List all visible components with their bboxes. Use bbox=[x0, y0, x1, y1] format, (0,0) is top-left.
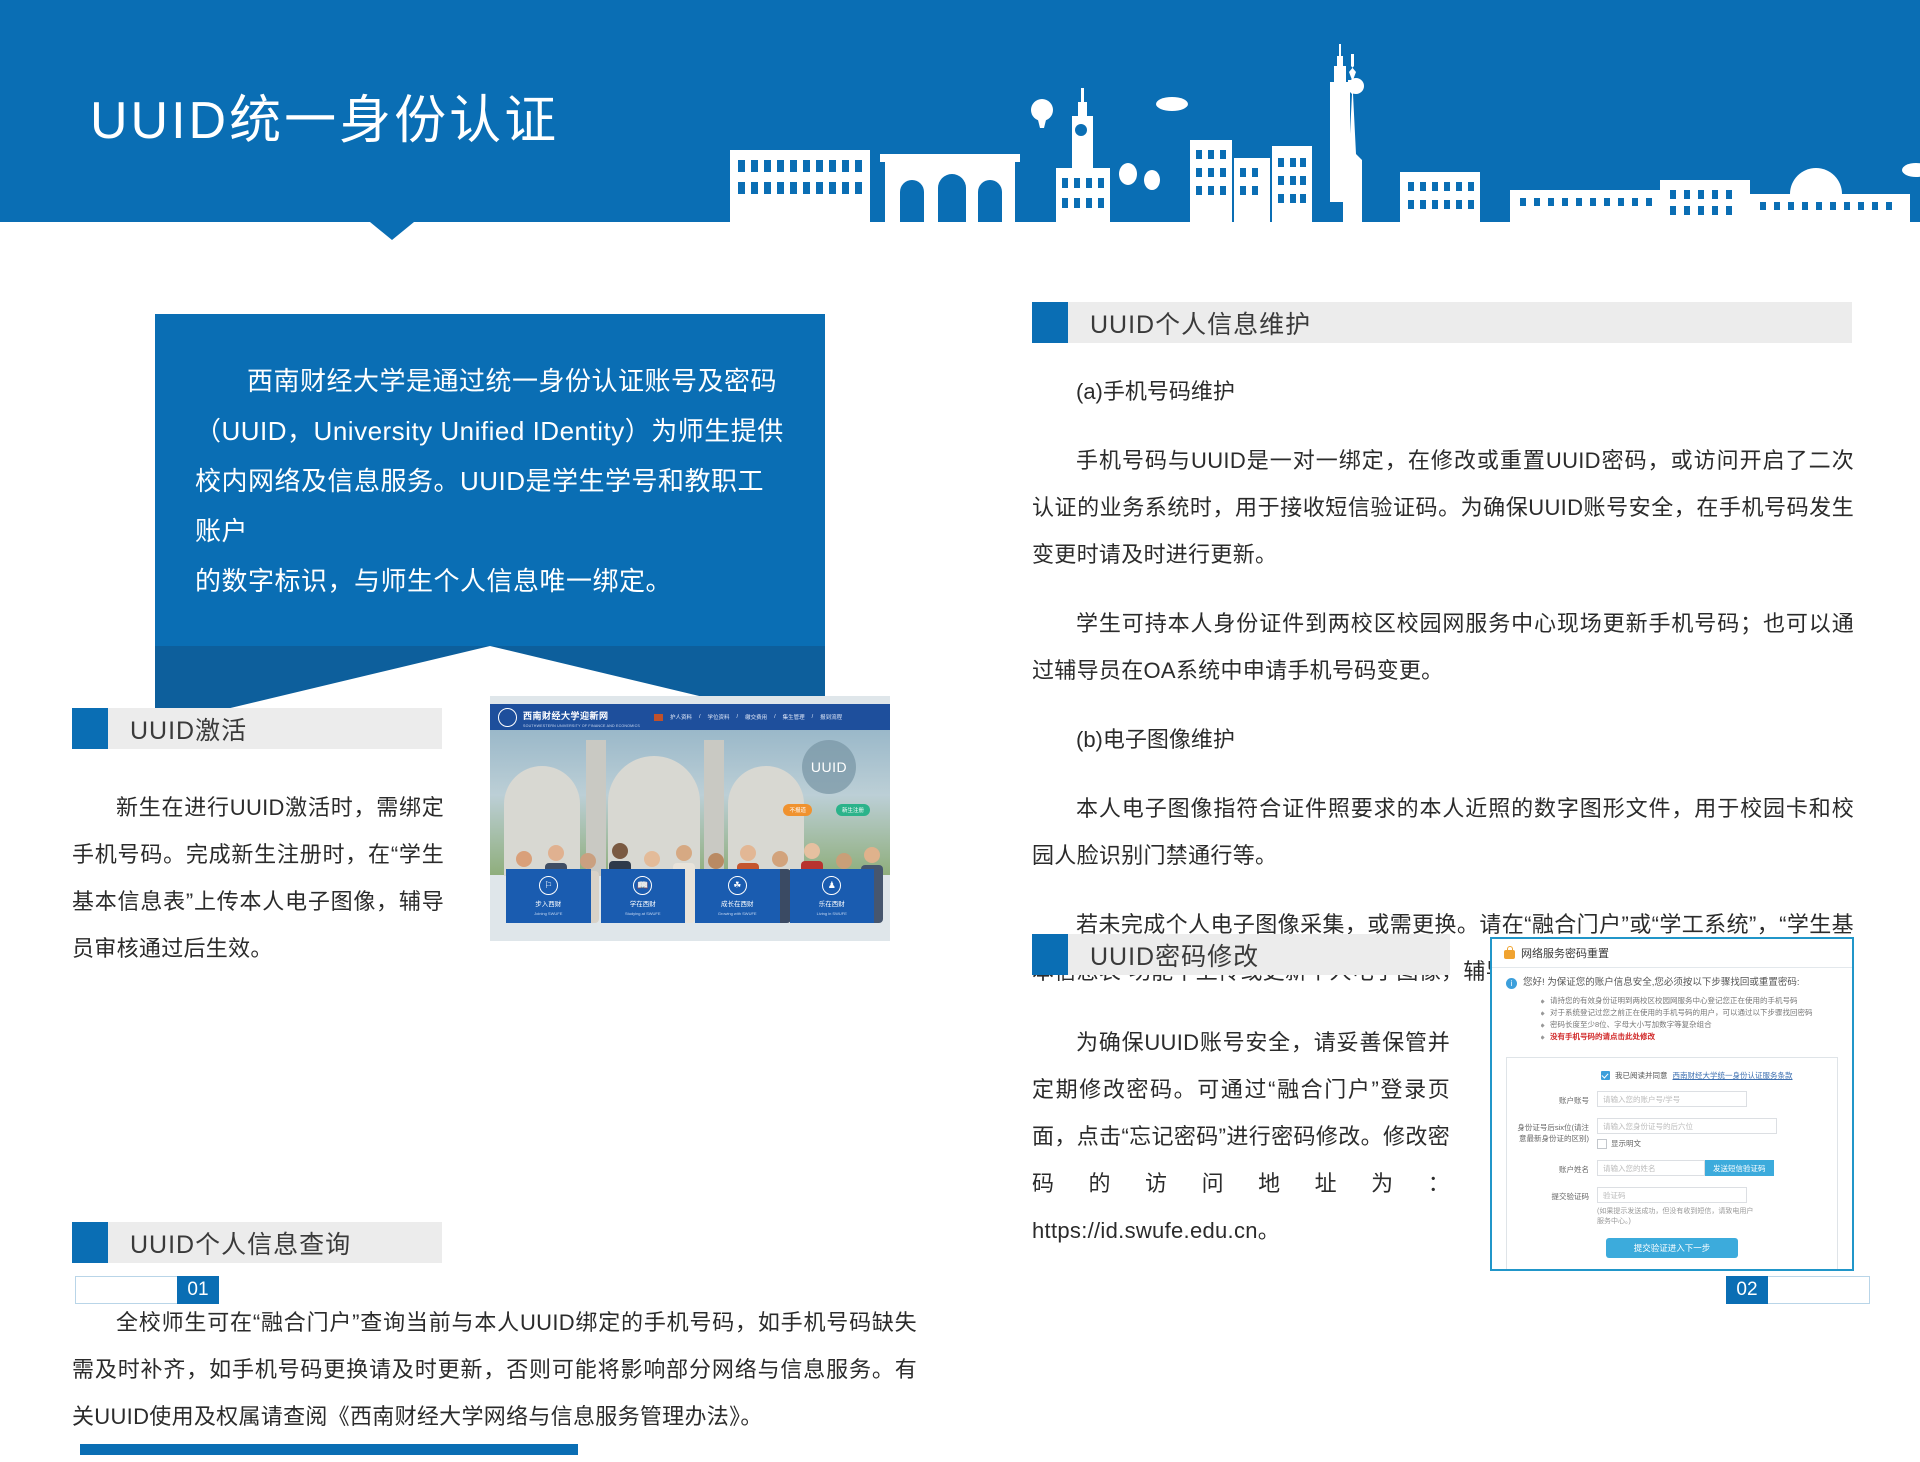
field-label: 身份证号后six位(请注意最新身份证的区别) bbox=[1517, 1118, 1597, 1144]
info-paragraph-a2: 学生可持本人身份证件到两校区校园网服务中心现场更新手机号码；也可以通过辅导员在O… bbox=[1032, 600, 1854, 694]
plant-icon: ☘ bbox=[728, 876, 747, 895]
campus-skyline-illustration bbox=[720, 42, 1920, 222]
people-icon: ♟ bbox=[822, 876, 841, 895]
intro-line: 的数字标识，与师生个人信息唯一绑定。 bbox=[195, 556, 785, 606]
footer-rule-left bbox=[80, 1444, 578, 1455]
page-number-left: 01 bbox=[75, 1276, 219, 1304]
page-number-rule bbox=[75, 1276, 177, 1304]
idcard-input[interactable]: 请输入您身份证号的后六位 bbox=[1597, 1118, 1777, 1134]
query-paragraph: 全校师生可在“融合门户”查询当前与本人UUID绑定的手机号码，如手机号码缺失需及… bbox=[72, 1299, 917, 1440]
terms-link[interactable]: 西南财经大学统一身份认证服务条款 bbox=[1673, 1070, 1793, 1081]
section-info-maintenance-body: (a)手机号码维护 手机号码与UUID是一对一绑定，在修改或重置UUID密码，或… bbox=[1032, 362, 1854, 1017]
field-row-name: 账户姓名 请输入您的姓名 发送短信验证码 bbox=[1517, 1160, 1827, 1176]
intro-text: 西南财经大学是通过统一身份认证账号及密码 （UUID，University Un… bbox=[195, 356, 785, 606]
notice-bullet: 对于系统登记过您之前正在使用的手机号码的用户，可以通过以下步骤找回密码 bbox=[1541, 1007, 1813, 1019]
intro-callout: 西南财经大学是通过统一身份认证账号及密码 （UUID，University Un… bbox=[155, 314, 825, 726]
reset-notice-text: 您好! 为保证您的账户信息安全,您必须按以下步骤找回或重置密码: bbox=[1523, 976, 1813, 990]
flag-icon: ⚐ bbox=[539, 876, 558, 895]
intro-line: （UUID，University Unified IDentity）为师生提供 bbox=[195, 406, 785, 456]
password-reset-screenshot: 网络服务密码重置 i 您好! 为保证您的账户信息安全,您必须按以下步骤找回或重置… bbox=[1490, 937, 1854, 1271]
campus-site-brand: 西南财经大学迎新网 SOUTHWESTERN UNIVERSITY OF FIN… bbox=[523, 706, 640, 728]
tile-growing-with-swufe[interactable]: ☘ 成长在西财 Growing with SWUFE bbox=[695, 869, 780, 923]
field-label: 提交验证码 bbox=[1517, 1187, 1597, 1202]
page-number-right: 02 bbox=[1726, 1276, 1870, 1304]
tile-joining-swufe[interactable]: ⚐ 步入西财 Joining SWUFE bbox=[506, 869, 591, 923]
university-logo-icon bbox=[498, 708, 517, 727]
campus-website-screenshot: 西南财经大学迎新网 SOUTHWESTERN UNIVERSITY OF FIN… bbox=[490, 696, 890, 941]
terms-checkbox[interactable] bbox=[1601, 1071, 1610, 1080]
notice-bullet-warning[interactable]: 没有手机号码的请点击此处修改 bbox=[1541, 1031, 1813, 1043]
info-paragraph-a1: 手机号码与UUID是一对一绑定，在修改或重置UUID密码，或访问开启了二次认证的… bbox=[1032, 437, 1854, 578]
page-number-value: 01 bbox=[177, 1276, 219, 1304]
password-paragraph: 为确保UUID账号安全，请妥善保管并定期修改密码。可通过“融合门户”登录页面，点… bbox=[1032, 1019, 1450, 1254]
reset-notice-bullets: 请持您的有效身份证明到两校区校园网服务中心登记您正在使用的手机号码 对于系统登记… bbox=[1541, 995, 1813, 1043]
intro-line: 西南财经大学是通过统一身份认证账号及密码 bbox=[195, 356, 785, 406]
plaintext-checkbox[interactable] bbox=[1597, 1139, 1607, 1149]
submit-verification-button[interactable]: 提交验证进入下一步 bbox=[1606, 1238, 1738, 1258]
terms-agreement-row[interactable]: 我已阅读并同意 西南财经大学统一身份认证服务条款 bbox=[1601, 1070, 1827, 1081]
nav-item[interactable]: 缴交费用 bbox=[745, 713, 767, 721]
pill-no-report[interactable]: 不报道 bbox=[783, 804, 812, 816]
page-header: UUID统一身份认证 bbox=[0, 0, 1920, 222]
field-label: 账户姓名 bbox=[1517, 1160, 1597, 1175]
name-input[interactable]: 请输入您的姓名 bbox=[1597, 1160, 1705, 1176]
info-icon: i bbox=[1506, 978, 1517, 989]
verification-code-input[interactable]: 验证码 bbox=[1597, 1187, 1747, 1203]
page-number-rule bbox=[1768, 1276, 1870, 1304]
intro-box: 西南财经大学是通过统一身份认证账号及密码 （UUID，University Un… bbox=[155, 314, 825, 646]
reset-notice: i 您好! 为保证您的账户信息安全,您必须按以下步骤找回或重置密码: 请持您的有… bbox=[1492, 968, 1852, 1047]
section-query-body: 全校师生可在“融合门户”查询当前与本人UUID绑定的手机号码，如手机号码缺失需及… bbox=[72, 1277, 917, 1462]
pill-new-student-register[interactable]: 新生注册 bbox=[836, 804, 870, 816]
notice-bullet: 请持您的有效身份证明到两校区校园网服务中心登记您正在使用的手机号码 bbox=[1541, 995, 1813, 1007]
campus-site-tiles: ⚐ 步入西财 Joining SWUFE 📖 学在西财 Studying at … bbox=[490, 869, 890, 923]
section-password-change-body: 为确保UUID账号安全，请妥善保管并定期修改密码。可通过“融合门户”登录页面，点… bbox=[1032, 997, 1450, 1276]
section-password-change-heading: UUID密码修改 bbox=[1032, 934, 1450, 975]
section-info-maintenance-heading: UUID个人信息维护 bbox=[1032, 302, 1852, 343]
campus-site-navbar: 西南财经大学迎新网 SOUTHWESTERN UNIVERSITY OF FIN… bbox=[490, 704, 890, 730]
nav-item[interactable]: 学位资料 bbox=[708, 713, 730, 721]
heading-label: UUID个人信息维护 bbox=[1090, 305, 1311, 341]
heading-accent-tab bbox=[72, 1222, 108, 1263]
info-paragraph-b1: 本人电子图像指符合证件照要求的本人近照的数字图形文件，用于校园卡和校园人脸识别门… bbox=[1032, 785, 1854, 879]
intro-line: 校内网络及信息服务。UUID是学生学号和教职工账户 bbox=[195, 456, 785, 556]
plaintext-label: 显示明文 bbox=[1611, 1138, 1641, 1149]
field-row-code: 提交验证码 验证码 (如果提示发送成功，但没有收到短信，请致电用户服务中心。) bbox=[1517, 1187, 1827, 1227]
reset-form: 我已阅读并同意 西南财经大学统一身份认证服务条款 账户账号 请输入您的账户号/学… bbox=[1506, 1057, 1838, 1271]
heading-label: UUID个人信息查询 bbox=[130, 1225, 351, 1261]
verification-hint: (如果提示发送成功，但没有收到短信，请致电用户服务中心。) bbox=[1597, 1207, 1757, 1227]
heading-accent-tab bbox=[1032, 302, 1068, 343]
tile-studying-at-swufe[interactable]: 📖 学在西财 Studying at SWUFE bbox=[601, 869, 686, 923]
heading-accent-tab bbox=[72, 708, 108, 749]
section-query-heading: UUID个人信息查询 bbox=[72, 1222, 442, 1263]
heading-accent-tab bbox=[1032, 934, 1068, 975]
nav-item[interactable]: 集生管理 bbox=[783, 713, 805, 721]
activate-paragraph: 新生在进行UUID激活时，需绑定手机号码。完成新生注册时，在“学生基本信息表”上… bbox=[72, 784, 444, 972]
section-activate-heading: UUID激活 bbox=[72, 708, 442, 749]
notice-bullet: 密码长度至少8位、字母大小写加数字等复杂组合 bbox=[1541, 1019, 1813, 1031]
left-column: 西南财经大学是通过统一身份认证账号及密码 （UUID，University Un… bbox=[0, 222, 960, 1374]
lock-icon bbox=[1504, 950, 1515, 959]
subsection-a-label: (a)手机号码维护 bbox=[1032, 368, 1854, 415]
send-sms-code-button[interactable]: 发送短信验证码 bbox=[1705, 1160, 1774, 1176]
field-label: 账户账号 bbox=[1517, 1091, 1597, 1106]
reset-panel-title: 网络服务密码重置 bbox=[1521, 945, 1609, 961]
subsection-b-label: (b)电子图像维护 bbox=[1032, 716, 1854, 763]
nav-item[interactable]: 报到流程 bbox=[820, 713, 842, 721]
campus-site-nav-items: 护人资料 / 学位资料 / 缴交费用 / 集生管理 / 报到流程 bbox=[654, 713, 842, 721]
heading-label: UUID密码修改 bbox=[1090, 937, 1259, 973]
nav-item[interactable]: 护人资料 bbox=[670, 713, 692, 721]
reset-panel-header: 网络服务密码重置 bbox=[1492, 939, 1852, 968]
page-number-value: 02 bbox=[1726, 1276, 1768, 1304]
section-activate-body: 新生在进行UUID激活时，需绑定手机号码。完成新生注册时，在“学生基本信息表”上… bbox=[72, 762, 444, 994]
tile-living-in-swufe[interactable]: ♟ 乐在西财 Living in SWUFE bbox=[790, 869, 875, 923]
page-title: UUID统一身份认证 bbox=[90, 78, 559, 153]
menu-icon[interactable] bbox=[654, 714, 663, 721]
heading-label: UUID激活 bbox=[130, 711, 247, 747]
book-icon: 📖 bbox=[633, 876, 652, 895]
field-row-idcard: 身份证号后six位(请注意最新身份证的区别) 请输入您身份证号的后六位 显示明文 bbox=[1517, 1118, 1827, 1149]
plaintext-toggle-row[interactable]: 显示明文 bbox=[1597, 1138, 1777, 1149]
account-input[interactable]: 请输入您的账户号/学号 bbox=[1597, 1091, 1747, 1107]
terms-label: 我已阅读并同意 bbox=[1615, 1070, 1668, 1081]
field-row-account: 账户账号 请输入您的账户号/学号 bbox=[1517, 1091, 1827, 1107]
uuid-badge: UUID bbox=[802, 740, 856, 794]
right-column: UUID个人信息维护 (a)手机号码维护 手机号码与UUID是一对一绑定，在修改… bbox=[960, 222, 1920, 1374]
